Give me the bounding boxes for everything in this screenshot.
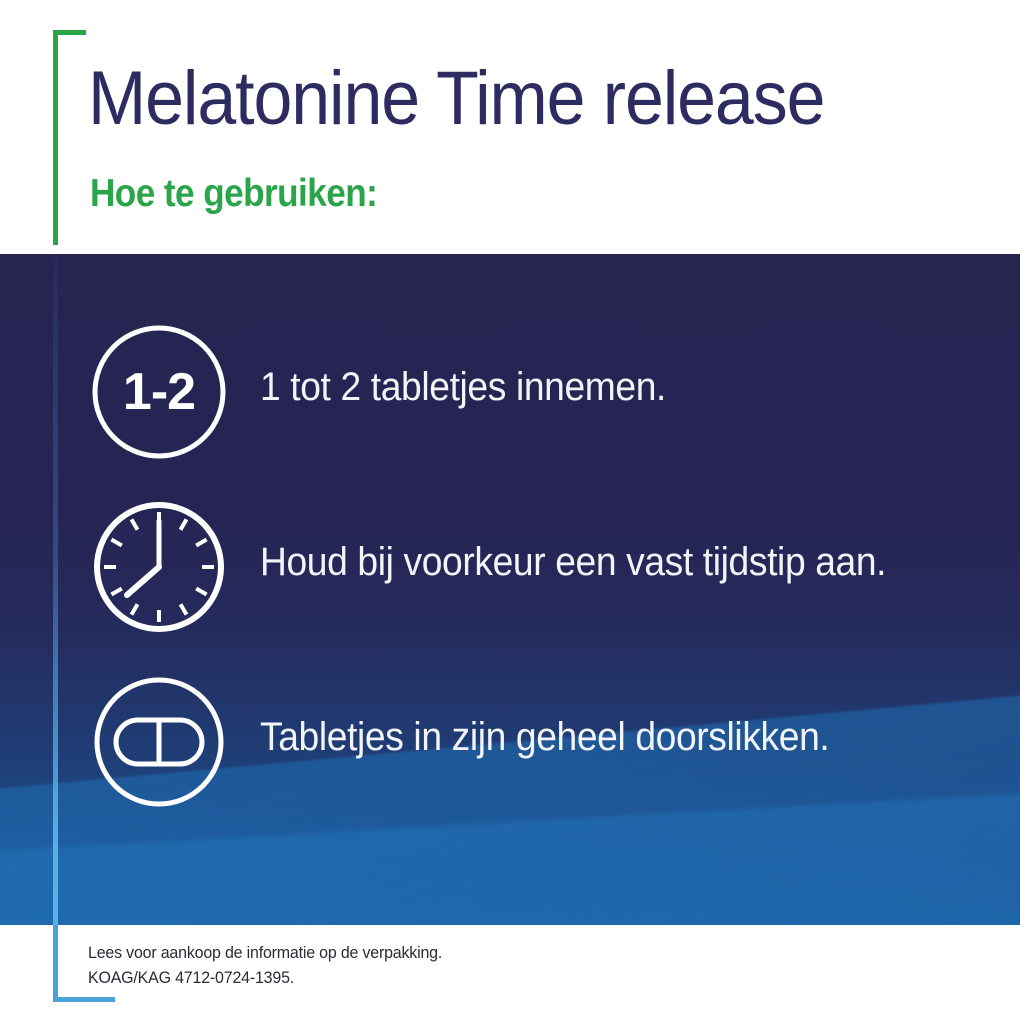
promo-card: Melatonine Time release Hoe te gebruiken… xyxy=(0,0,1020,1020)
footer-disclaimer: Lees voor aankoop de informatie op de ve… xyxy=(88,940,442,990)
circle-number-icon: 1-2 xyxy=(92,325,226,459)
pill-capsule-icon xyxy=(92,675,226,809)
footer-line-1: Lees voor aankoop de informatie op de ve… xyxy=(88,940,442,965)
header-section: Melatonine Time release Hoe te gebruiken… xyxy=(0,0,1020,254)
green-bracket-arm-icon xyxy=(53,30,86,35)
green-bracket-stem-icon xyxy=(53,30,58,245)
blue-bracket-arm-icon xyxy=(53,997,115,1002)
blue-bracket-stem-icon xyxy=(53,925,58,1002)
instructions-panel: 1-2 1 tot 2 tabletjes innemen. xyxy=(0,254,1020,925)
list-item-label: Tabletjes in zijn geheel doorslikken. xyxy=(260,714,829,760)
list-item-label: Houd bij voorkeur een vast tijdstip aan. xyxy=(260,539,886,585)
blue-bracket-stem-upper-icon xyxy=(53,254,58,925)
list-item-label: 1 tot 2 tabletjes innemen. xyxy=(260,364,666,410)
page-subtitle: Hoe te gebruiken: xyxy=(90,172,377,216)
footer-line-2: KOAG/KAG 4712-0724-1395. xyxy=(88,965,442,990)
circle-number-label: 1-2 xyxy=(123,363,195,421)
clock-icon xyxy=(92,500,226,634)
page-title: Melatonine Time release xyxy=(88,58,824,140)
